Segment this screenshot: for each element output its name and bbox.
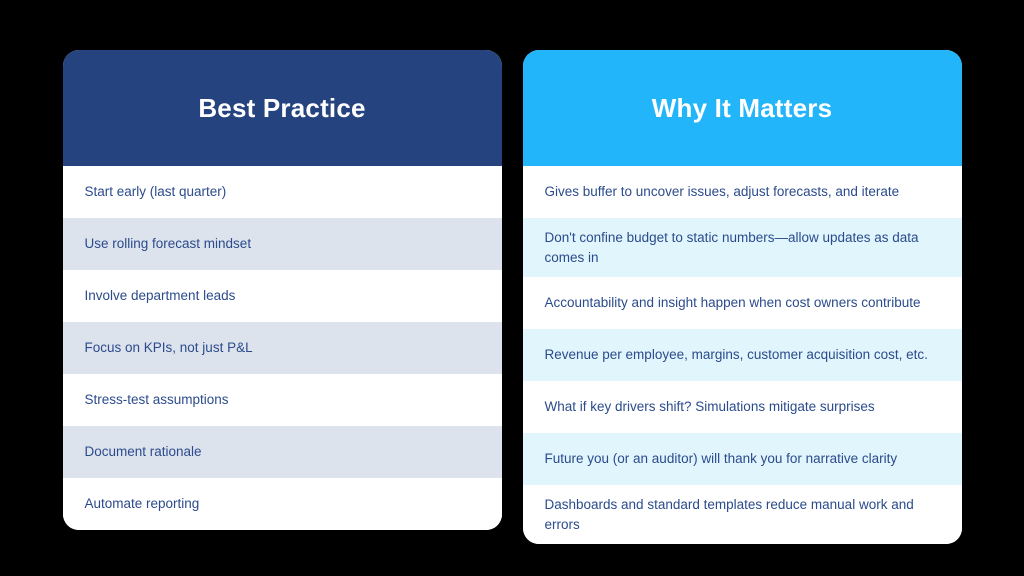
best-practice-cell: Use rolling forecast mindset bbox=[85, 234, 252, 254]
why-it-matters-cell: What if key drivers shift? Simulations m… bbox=[545, 397, 875, 417]
table-row[interactable]: Dashboards and standard templates reduce… bbox=[523, 485, 962, 544]
table-row[interactable]: Stress-test assumptions bbox=[63, 374, 502, 426]
best-practice-cell: Automate reporting bbox=[85, 494, 200, 514]
why-it-matters-rows: Gives buffer to uncover issues, adjust f… bbox=[523, 166, 962, 544]
table-row[interactable]: Start early (last quarter) bbox=[63, 166, 502, 218]
table-row[interactable]: Don't confine budget to static numbers—a… bbox=[523, 218, 962, 277]
best-practice-cell: Stress-test assumptions bbox=[85, 390, 229, 410]
why-it-matters-title: Why It Matters bbox=[652, 93, 832, 124]
best-practice-header: Best Practice bbox=[63, 50, 502, 166]
why-it-matters-cell: Don't confine budget to static numbers—a… bbox=[545, 228, 946, 267]
why-it-matters-cell: Gives buffer to uncover issues, adjust f… bbox=[545, 182, 900, 202]
best-practice-cell: Focus on KPIs, not just P&L bbox=[85, 338, 253, 358]
table-row[interactable]: Use rolling forecast mindset bbox=[63, 218, 502, 270]
best-practice-rows: Start early (last quarter) Use rolling f… bbox=[63, 166, 502, 530]
best-practice-cell: Involve department leads bbox=[85, 286, 236, 306]
table-row[interactable]: Revenue per employee, margins, customer … bbox=[523, 329, 962, 381]
table-row[interactable]: Automate reporting bbox=[63, 478, 502, 530]
table-row[interactable]: Involve department leads bbox=[63, 270, 502, 322]
why-it-matters-cell: Dashboards and standard templates reduce… bbox=[545, 495, 946, 534]
table-row[interactable]: Future you (or an auditor) will thank yo… bbox=[523, 433, 962, 485]
why-it-matters-cell: Revenue per employee, margins, customer … bbox=[545, 345, 928, 365]
table-row[interactable]: Focus on KPIs, not just P&L bbox=[63, 322, 502, 374]
why-it-matters-header: Why It Matters bbox=[523, 50, 962, 166]
best-practice-title: Best Practice bbox=[198, 93, 365, 124]
best-practice-cell: Document rationale bbox=[85, 442, 202, 462]
best-practice-cell: Start early (last quarter) bbox=[85, 182, 227, 202]
why-it-matters-cell: Future you (or an auditor) will thank yo… bbox=[545, 449, 898, 469]
best-practice-card: Best Practice Start early (last quarter)… bbox=[63, 50, 502, 530]
table-row[interactable]: Gives buffer to uncover issues, adjust f… bbox=[523, 166, 962, 218]
why-it-matters-cell: Accountability and insight happen when c… bbox=[545, 293, 921, 313]
table-row[interactable]: What if key drivers shift? Simulations m… bbox=[523, 381, 962, 433]
table-row[interactable]: Accountability and insight happen when c… bbox=[523, 277, 962, 329]
why-it-matters-card: Why It Matters Gives buffer to uncover i… bbox=[523, 50, 962, 544]
table-row[interactable]: Document rationale bbox=[63, 426, 502, 478]
